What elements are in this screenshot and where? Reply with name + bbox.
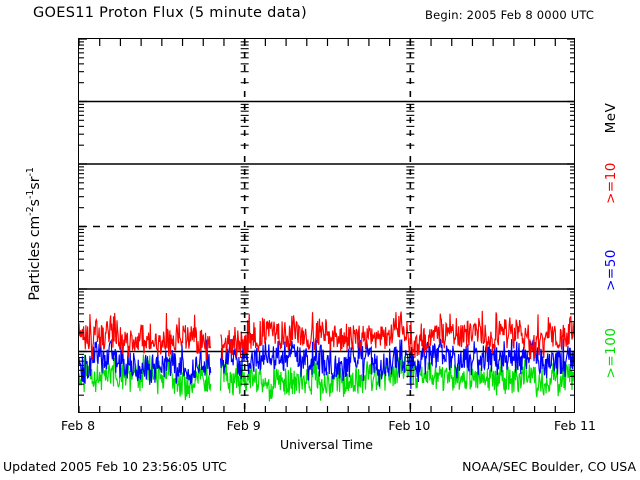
begin-time-label: Begin: 2005 Feb 8 0000 UTC xyxy=(425,8,594,22)
plot-area xyxy=(78,38,575,413)
page-title: GOES11 Proton Flux (5 minute data) xyxy=(33,5,307,21)
x-tick-label: Feb 11 xyxy=(554,418,596,433)
legend-item-1: >=50 xyxy=(603,225,619,315)
footer-source: NOAA/SEC Boulder, CO USA xyxy=(462,459,636,474)
x-tick-label: Feb 9 xyxy=(227,418,261,433)
tick-layer xyxy=(79,39,574,412)
y-axis-title: Particles cm-2s-1sr-1 xyxy=(25,114,43,354)
x-tick-label: Feb 10 xyxy=(388,418,430,433)
x-axis-title: Universal Time xyxy=(78,437,575,452)
legend-item-0: >=10 xyxy=(603,138,619,228)
footer-updated: Updated 2005 Feb 10 23:56:05 UTC xyxy=(3,459,227,474)
x-tick-label: Feb 8 xyxy=(61,418,95,433)
legend-item-2: >=100 xyxy=(603,308,619,398)
plot-inner xyxy=(79,39,574,412)
